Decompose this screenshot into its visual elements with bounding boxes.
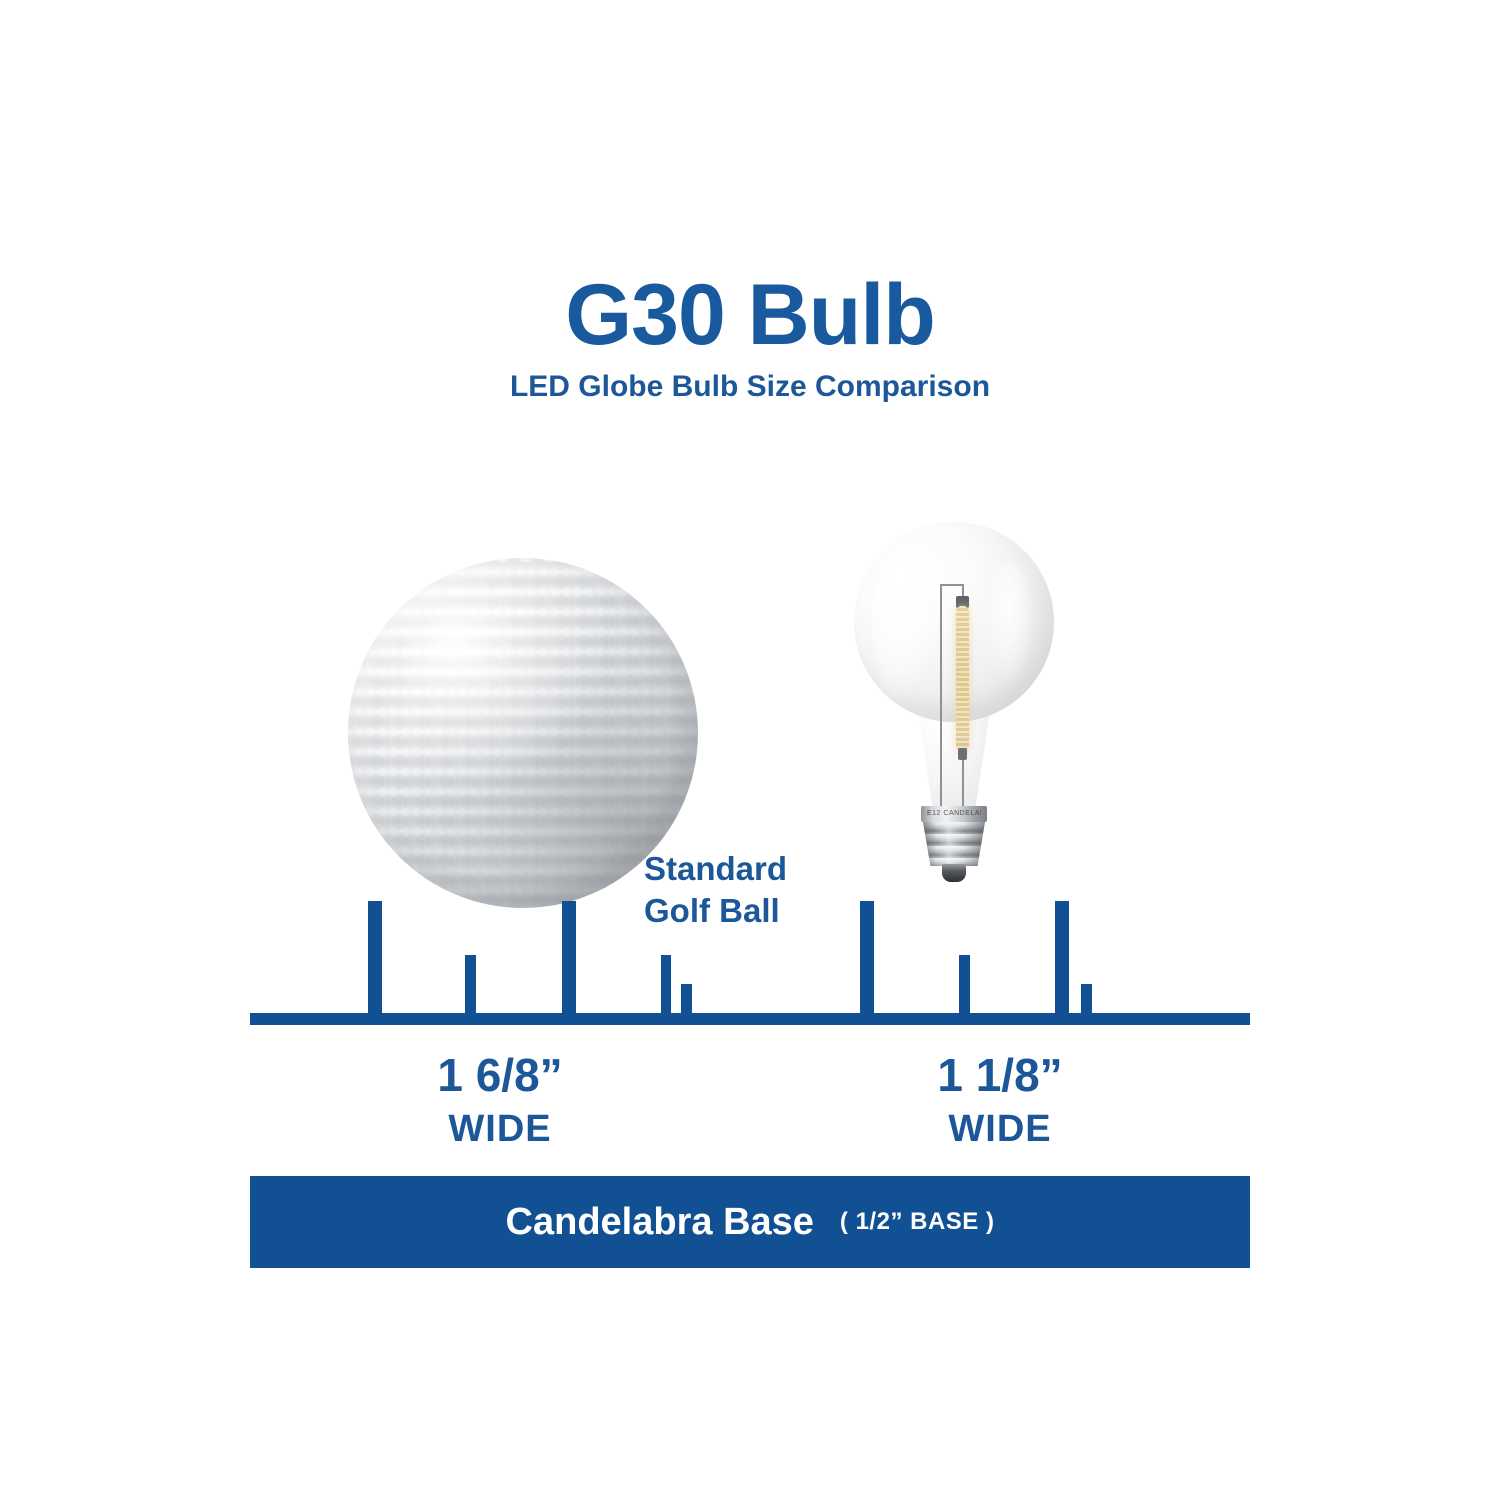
- ruler-tick-bulb-major: [860, 901, 874, 1013]
- golf-ball-width-value: 1 6/8”: [310, 1052, 690, 1098]
- candelabra-base-banner: Candelabra Base ( 1/2” BASE ): [250, 1176, 1250, 1268]
- ruler-tick-golf-ball-major: [562, 901, 576, 1013]
- golf-ball-dimension-label: 1 6/8” WIDE: [310, 1052, 690, 1148]
- ruler-tick-golf-ball-minor: [465, 955, 476, 1013]
- bulb-width-unit: WIDE: [810, 1110, 1190, 1148]
- measurement-ruler: [0, 0, 1500, 1025]
- golf-ball-width-unit: WIDE: [310, 1110, 690, 1148]
- infographic-canvas: G30 Bulb LED Globe Bulb Size Comparison …: [0, 0, 1500, 1500]
- bulb-width-value: 1 1/8”: [810, 1052, 1190, 1098]
- ruler-tick-golf-ball-major: [368, 901, 382, 1013]
- ruler-tick-bulb-micro: [1081, 984, 1092, 1013]
- ruler-baseline: [250, 1013, 1250, 1025]
- ruler-tick-golf-ball-minor: [661, 955, 671, 1013]
- candelabra-base-size: ( 1/2” BASE ): [840, 1208, 995, 1236]
- ruler-tick-golf-ball-micro: [681, 984, 692, 1013]
- candelabra-base-label: Candelabra Base: [506, 1201, 814, 1244]
- ruler-tick-bulb-major: [1055, 901, 1069, 1013]
- bulb-dimension-label: 1 1/8” WIDE: [810, 1052, 1190, 1148]
- ruler-tick-bulb-minor: [959, 955, 970, 1013]
